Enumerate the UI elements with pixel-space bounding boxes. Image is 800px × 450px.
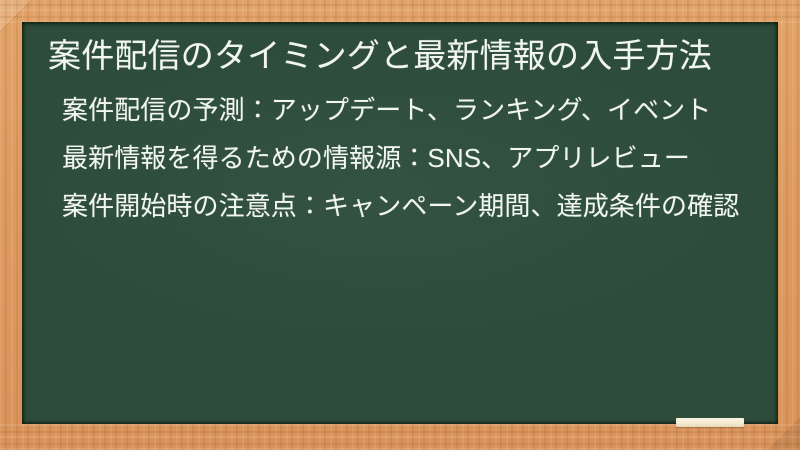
list-item: 案件開始時の注意点：キャンペーン期間、達成条件の確認 [62,188,752,224]
chalkboard-content: 案件配信のタイミングと最新情報の入手方法 案件配信の予測：アップデート、ランキン… [22,22,778,424]
chalkboard-graphic: 案件配信のタイミングと最新情報の入手方法 案件配信の予測：アップデート、ランキン… [0,0,800,450]
chalk-stick-icon [676,418,744,427]
frame-rail-bottom [0,424,800,450]
page-title: 案件配信のタイミングと最新情報の入手方法 [48,34,752,78]
bullet-list: 案件配信の予測：アップデート、ランキング、イベント 最新情報を得るための情報源：… [48,92,752,225]
frame-rail-top [0,0,800,23]
list-item: 案件配信の予測：アップデート、ランキング、イベント [62,92,752,128]
green-chalkboard-surface: 案件配信のタイミングと最新情報の入手方法 案件配信の予測：アップデート、ランキン… [22,22,778,424]
list-item: 最新情報を得るための情報源：SNS、アプリレビュー [62,140,752,176]
